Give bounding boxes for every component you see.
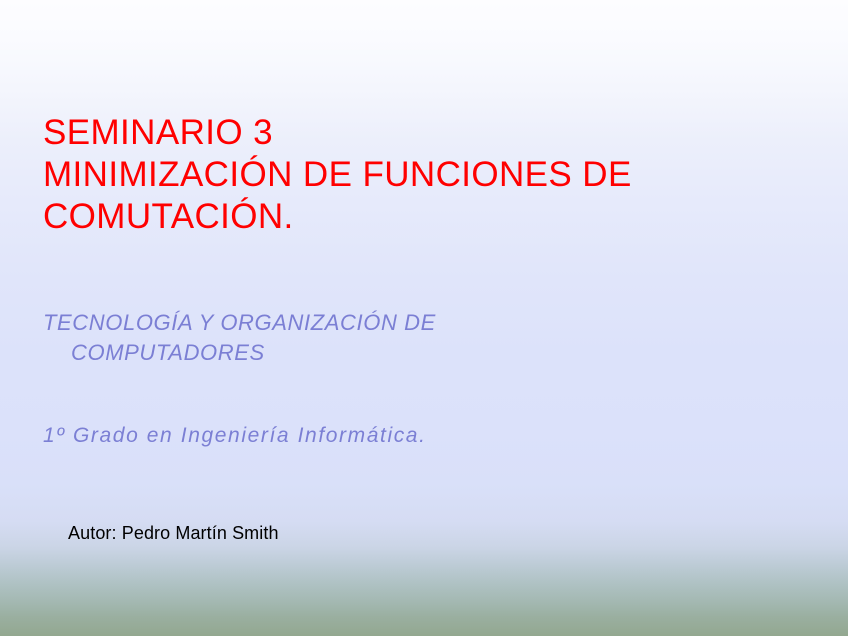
slide-title-line-2: MINIMIZACIÓN DE FUNCIONES DE bbox=[43, 154, 743, 196]
presentation-title-slide: SEMINARIO 3 MINIMIZACIÓN DE FUNCIONES DE… bbox=[0, 0, 848, 636]
slide-author-text: Autor: Pedro Martín Smith bbox=[68, 521, 279, 545]
slide-degree-text: 1º Grado en Ingeniería Informática. bbox=[43, 422, 427, 450]
slide-title-line-3: COMUTACIÓN. bbox=[43, 196, 743, 238]
slide-subtitle-line-1: TECNOLOGÍA Y ORGANIZACIÓN DE bbox=[43, 308, 763, 338]
slide-title: SEMINARIO 3 MINIMIZACIÓN DE FUNCIONES DE… bbox=[43, 112, 743, 238]
slide-title-line-1: SEMINARIO 3 bbox=[43, 112, 743, 154]
slide-subtitle-line-2: COMPUTADORES bbox=[43, 338, 763, 368]
slide-subtitle: TECNOLOGÍA Y ORGANIZACIÓN DE COMPUTADORE… bbox=[43, 308, 763, 368]
